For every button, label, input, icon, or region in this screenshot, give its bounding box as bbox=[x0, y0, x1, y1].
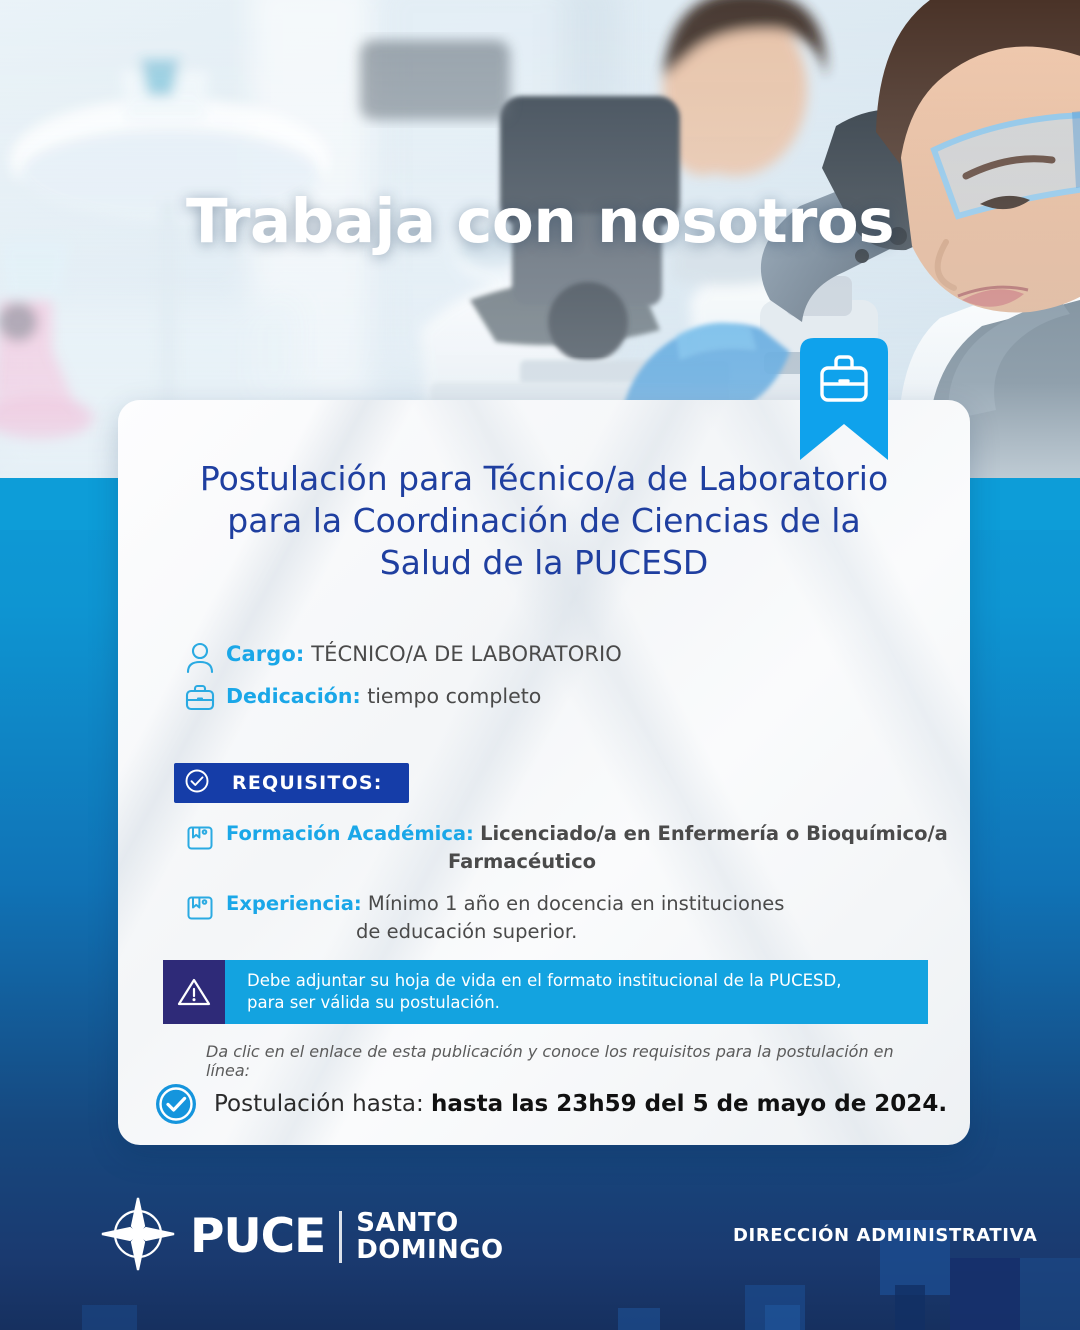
experiencia-text: Experiencia: Mínimo 1 año en docencia en… bbox=[226, 890, 964, 946]
decor-square bbox=[950, 1258, 1020, 1330]
person-icon bbox=[174, 640, 226, 674]
logo-divider bbox=[339, 1211, 342, 1263]
puce-compass-emblem-icon bbox=[100, 1196, 176, 1277]
formacion-value: Licenciado/a en Enfermería o Bioquímico/… bbox=[480, 822, 948, 845]
decor-square bbox=[765, 1305, 800, 1330]
deadline-label: Postulación hasta: bbox=[214, 1091, 424, 1117]
formacion-value-line2: Farmacéutico bbox=[226, 848, 964, 876]
list-item-formacion: Formación Académica: Licenciado/a en Enf… bbox=[174, 820, 964, 876]
application-hint: Da clic en el enlace de esta publicación… bbox=[206, 1042, 926, 1080]
dedicacion-text: Dedicación: tiempo completo bbox=[226, 682, 954, 711]
cargo-text: Cargo: TÉCNICO/A DE LABORATORIO bbox=[226, 640, 954, 669]
experiencia-value: Mínimo 1 año en docencia en institucione… bbox=[368, 892, 785, 915]
job-summary-list: Cargo: TÉCNICO/A DE LABORATORIO Dedicaci… bbox=[174, 640, 954, 716]
requisitos-badge-label: REQUISITOS: bbox=[232, 772, 383, 794]
puce-logo: PUCE SANTO DOMINGO bbox=[100, 1196, 503, 1277]
decor-square bbox=[82, 1305, 137, 1330]
dedicacion-value: tiempo completo bbox=[367, 684, 541, 708]
formacion-label: Formación Académica: bbox=[226, 822, 474, 845]
campus-line1: SANTO bbox=[356, 1208, 458, 1238]
puce-wordmark: PUCE bbox=[190, 1209, 325, 1264]
warning-line2: para ser válida su postulación. bbox=[247, 992, 928, 1014]
job-posting-card: Postulación para Técnico/a de Laboratori… bbox=[118, 400, 970, 1145]
campus-line2: DOMINGO bbox=[356, 1235, 503, 1265]
warning-triangle-icon bbox=[163, 960, 225, 1024]
experiencia-value-line2: de educación superior. bbox=[226, 918, 964, 946]
list-item-cargo: Cargo: TÉCNICO/A DE LABORATORIO bbox=[174, 640, 954, 674]
check-circle-icon bbox=[184, 768, 210, 799]
department-label: DIRECCIÓN ADMINISTRATIVA bbox=[733, 1225, 1037, 1246]
check-circle-filled-icon bbox=[138, 1082, 214, 1126]
decor-square bbox=[1020, 1258, 1080, 1330]
list-item-experiencia: Experiencia: Mínimo 1 año en docencia en… bbox=[174, 890, 964, 946]
decor-square bbox=[618, 1308, 660, 1330]
deadline-text: Postulación hasta: hasta las 23h59 del 5… bbox=[214, 1091, 947, 1117]
cargo-value: TÉCNICO/A DE LABORATORIO bbox=[311, 642, 622, 666]
dedicacion-label: Dedicación: bbox=[226, 684, 361, 708]
list-item-dedicacion: Dedicación: tiempo completo bbox=[174, 682, 954, 712]
certificate-icon bbox=[174, 820, 226, 854]
deadline-value: hasta las 23h59 del 5 de mayo de 2024. bbox=[431, 1091, 947, 1117]
certificate-icon bbox=[174, 890, 226, 924]
requisitos-list: Formación Académica: Licenciado/a en Enf… bbox=[174, 820, 964, 960]
warning-text: Debe adjuntar su hoja de vida en el form… bbox=[225, 960, 928, 1024]
decor-square bbox=[895, 1285, 925, 1330]
campus-name: SANTO DOMINGO bbox=[356, 1210, 503, 1264]
briefcase-icon bbox=[174, 682, 226, 712]
page-title: Postulación para Técnico/a de Laboratori… bbox=[178, 458, 910, 584]
deadline-row: Postulación hasta: hasta las 23h59 del 5… bbox=[138, 1082, 958, 1126]
requisitos-badge: REQUISITOS: bbox=[174, 763, 409, 803]
hero-title: Trabaja con nosotros bbox=[0, 186, 1080, 257]
warning-banner: Debe adjuntar su hoja de vida en el form… bbox=[163, 960, 928, 1024]
formacion-text: Formación Académica: Licenciado/a en Enf… bbox=[226, 820, 964, 876]
experiencia-label: Experiencia: bbox=[226, 892, 362, 915]
cargo-label: Cargo: bbox=[226, 642, 304, 666]
bookmark-ribbon bbox=[800, 338, 888, 460]
warning-line1: Debe adjuntar su hoja de vida en el form… bbox=[247, 970, 928, 992]
